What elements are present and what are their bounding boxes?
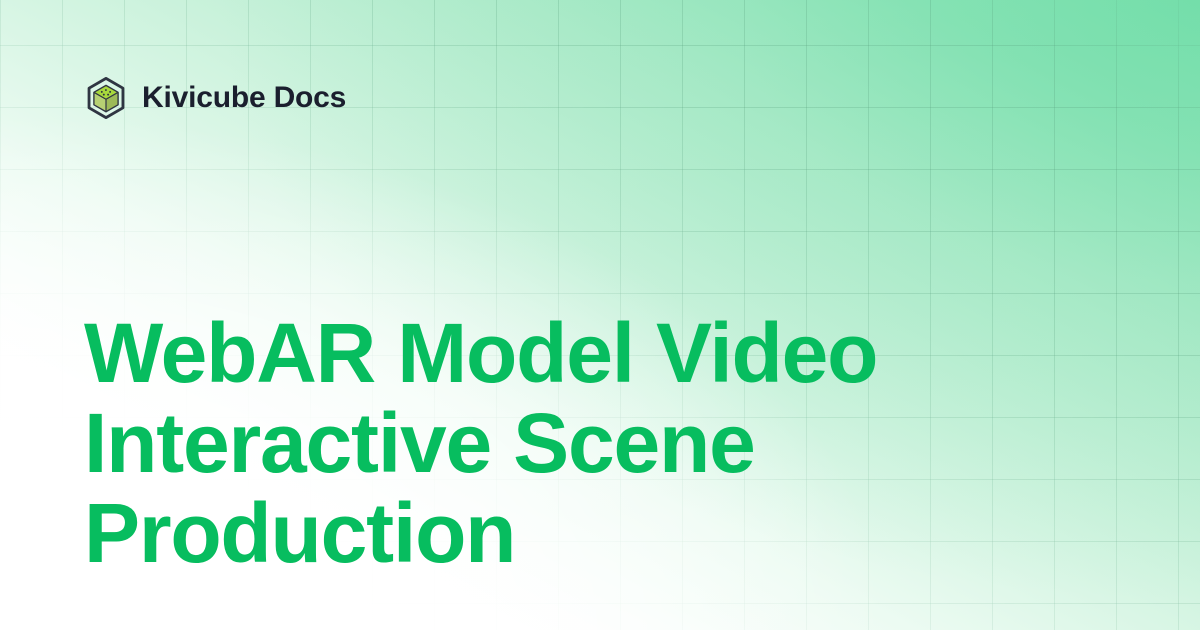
page-title-line-1: WebAR Model Video xyxy=(84,308,1024,398)
page-title: WebAR Model Video Interactive Scene Prod… xyxy=(84,308,1024,578)
card-content: Kivicube Docs WebAR Model Video Interact… xyxy=(0,0,1200,630)
brand-name: Kivicube Docs xyxy=(142,83,346,113)
page-title-line-3: Production xyxy=(84,488,1024,578)
kivicube-cube-logo-icon xyxy=(84,76,128,120)
brand-lockup[interactable]: Kivicube Docs xyxy=(84,76,346,120)
page-title-line-2: Interactive Scene xyxy=(84,398,1024,488)
og-card: Kivicube Docs WebAR Model Video Interact… xyxy=(0,0,1200,630)
